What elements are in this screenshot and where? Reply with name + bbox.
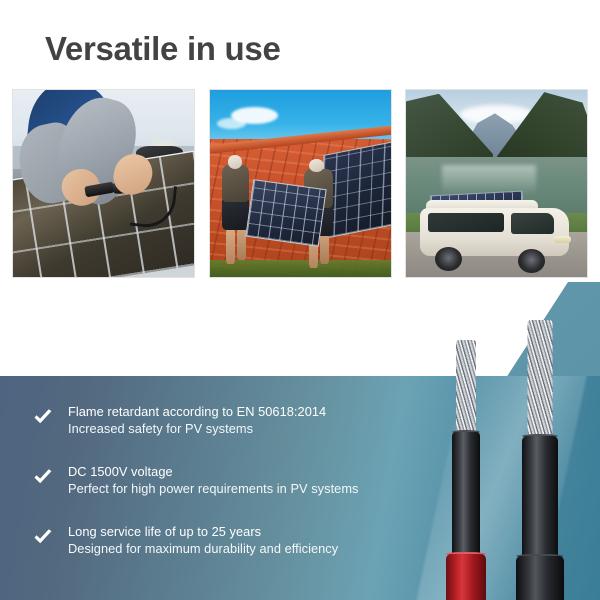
red-outer-jacket [446, 554, 486, 600]
product-cable-red [444, 340, 488, 600]
worker-left-shirt [222, 165, 249, 202]
feature-item-flame-retardant: Flame retardant according to EN 50618:20… [32, 404, 432, 452]
van-headlight [554, 236, 570, 243]
check-icon [32, 468, 54, 488]
photo-installer-connecting-solar-cable [12, 89, 195, 278]
product-cable-black [512, 320, 568, 600]
worker-right-leg-2 [320, 232, 329, 264]
feature-headline: DC 1500V voltage [68, 464, 432, 481]
page-title: Versatile in use [45, 30, 281, 68]
van-windshield [511, 213, 554, 234]
feature-list: Flame retardant according to EN 50618:20… [32, 404, 432, 584]
product-feature-banner: Versatile in use [0, 0, 600, 600]
worker-right-head [309, 159, 323, 172]
van-side-window [428, 213, 504, 232]
carried-solar-panel [246, 179, 328, 247]
worker-left-head [228, 155, 242, 168]
feature-detail: Designed for maximum durability and effi… [68, 541, 432, 558]
check-icon [32, 528, 54, 548]
feature-item-dc-voltage: DC 1500V voltage Perfect for high power … [32, 464, 432, 512]
photo-workers-mounting-panels-on-roof [209, 89, 392, 278]
worker-left-leg [226, 227, 235, 264]
tinned-copper-strands [528, 320, 553, 440]
feature-detail: Increased safety for PV systems [68, 421, 432, 438]
photo-gallery [12, 89, 588, 278]
inner-black-insulation [452, 432, 480, 560]
worker-left-shorts [222, 198, 249, 230]
black-outer-jacket [516, 556, 564, 600]
inner-black-insulation [522, 436, 558, 562]
photo-camper-van-with-rooftop-solar [405, 89, 588, 278]
decorative-teal-wedge [0, 278, 600, 378]
tinned-copper-strands [456, 340, 476, 436]
solar-cell-grid [247, 180, 326, 246]
check-icon [32, 408, 54, 428]
feature-item-service-life: Long service life of up to 25 years Desi… [32, 524, 432, 572]
feature-headline: Flame retardant according to EN 50618:20… [68, 404, 432, 421]
garden-foliage [210, 260, 391, 277]
worker-left-leg-2 [237, 227, 246, 261]
feature-headline: Long service life of up to 25 years [68, 524, 432, 541]
feature-detail: Perfect for high power requirements in P… [68, 481, 432, 498]
